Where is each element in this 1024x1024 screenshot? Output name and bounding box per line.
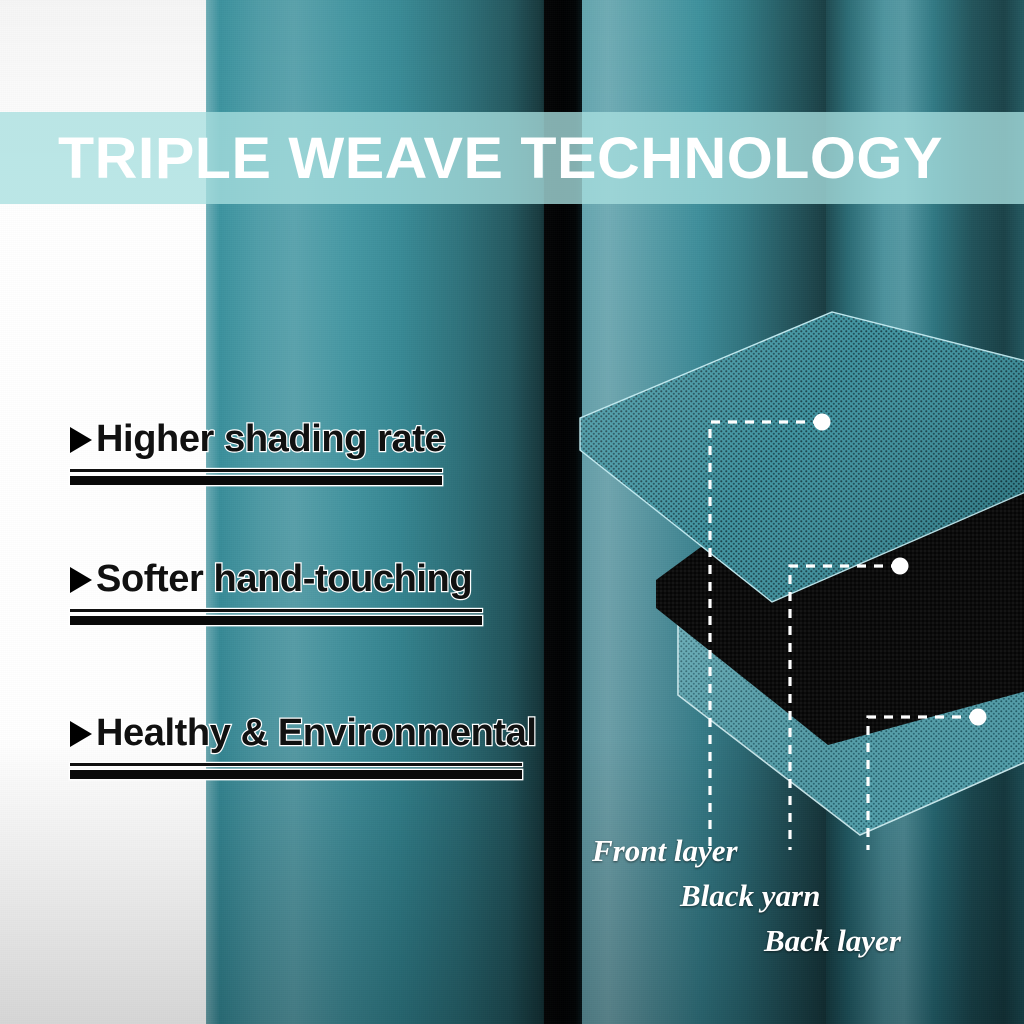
infographic-canvas: TRIPLE WEAVE TECHNOLOGY Higher shading r… — [0, 0, 1024, 1024]
feature-row: Higher shading rate — [70, 418, 445, 461]
triangle-right-icon — [70, 567, 92, 593]
feature-item-softer-hand-touching: Softer hand-touching — [70, 558, 482, 625]
callout-label-black-yarn: Black yarn — [680, 878, 820, 914]
feature-label: Healthy & Environmental — [96, 712, 537, 755]
underline-thick-rule — [70, 476, 442, 485]
feature-row: Softer hand-touching — [70, 558, 482, 601]
callout-dot-back — [970, 709, 987, 726]
triple-weave-layer-diagram — [560, 290, 1024, 850]
feature-underline — [70, 763, 522, 779]
feature-row: Healthy & Environmental — [70, 712, 537, 755]
feature-label: Higher shading rate — [96, 418, 445, 461]
headline-title: TRIPLE WEAVE TECHNOLOGY — [58, 112, 1024, 204]
feature-label: Softer hand-touching — [96, 558, 472, 601]
underline-thick-rule — [70, 616, 482, 625]
underline-thin-rule — [70, 763, 522, 766]
underline-thick-rule — [70, 770, 522, 779]
triangle-right-icon — [70, 721, 92, 747]
feature-item-higher-shading-rate: Higher shading rate — [70, 418, 445, 485]
feature-item-healthy-environmental: Healthy & Environmental — [70, 712, 537, 779]
underline-thin-rule — [70, 469, 442, 472]
callout-label-back-layer: Back layer — [764, 923, 901, 959]
callout-label-front-layer: Front layer — [592, 833, 738, 869]
triangle-right-icon — [70, 427, 92, 453]
callout-dot-front — [814, 414, 831, 431]
callout-dot-black-yarn — [892, 558, 909, 575]
feature-underline — [70, 609, 482, 625]
feature-underline — [70, 469, 442, 485]
underline-thin-rule — [70, 609, 482, 612]
